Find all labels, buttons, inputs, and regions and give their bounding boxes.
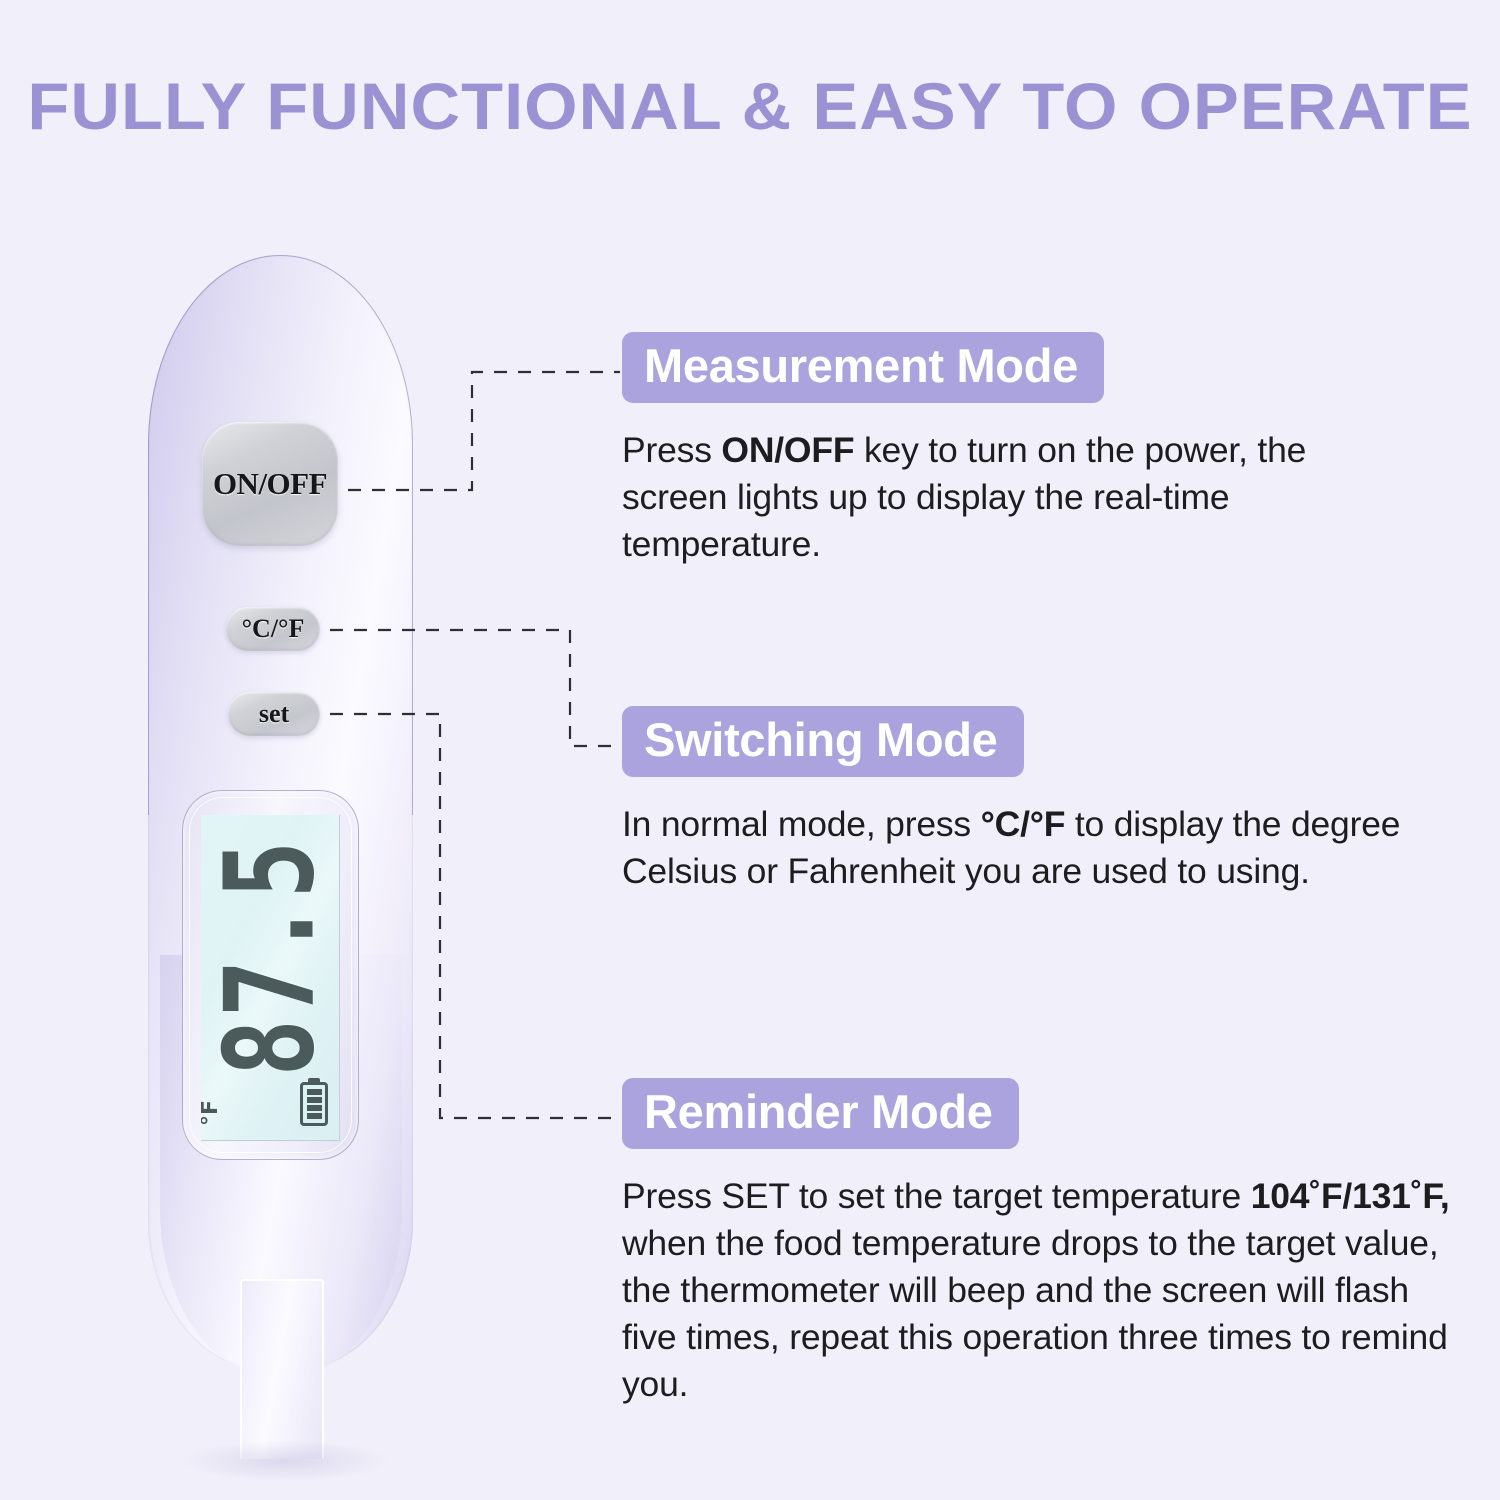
callout-measurement-body: Press ON/OFF key to turn on the power, t…: [622, 427, 1412, 568]
callout-reminder: Reminder Mode Press SET to set the targe…: [622, 1078, 1462, 1408]
device-shadow: [180, 1440, 390, 1482]
callout-reminder-badge: Reminder Mode: [622, 1078, 1019, 1149]
callout-switching-body: In normal mode, press °C/°F to display t…: [622, 801, 1412, 895]
battery-icon: [300, 1082, 328, 1126]
unit-toggle-button[interactable]: °C/°F: [226, 607, 320, 651]
power-button-label: ON/OFF: [213, 466, 327, 502]
page-title: FULLY FUNCTIONAL & EASY TO OPERATE: [0, 68, 1500, 144]
lcd-indicator-row: °F: [205, 1076, 336, 1130]
callout-reminder-body: Press SET to set the target temperature …: [622, 1173, 1462, 1407]
set-button[interactable]: set: [228, 692, 320, 736]
callout-switching-badge: Switching Mode: [622, 706, 1024, 777]
callout-measurement-badge: Measurement Mode: [622, 332, 1104, 403]
callout-measurement: Measurement Mode Press ON/OFF key to tur…: [622, 332, 1412, 568]
lcd-unit-label: °F: [201, 1100, 223, 1126]
probe-slot: [240, 1279, 324, 1459]
power-button[interactable]: ON/OFF: [202, 422, 338, 546]
lcd-temperature-value: 87.5: [209, 839, 332, 1077]
set-button-label: set: [259, 699, 289, 729]
lcd-screen: 87.5 °F: [201, 815, 340, 1141]
thermometer-device-illustration: ON/OFF °C/°F set 87.5 °F: [120, 255, 440, 1485]
lcd-readout: 87.5: [210, 833, 330, 1083]
unit-toggle-label: °C/°F: [242, 614, 305, 644]
callout-switching: Switching Mode In normal mode, press °C/…: [622, 706, 1412, 895]
